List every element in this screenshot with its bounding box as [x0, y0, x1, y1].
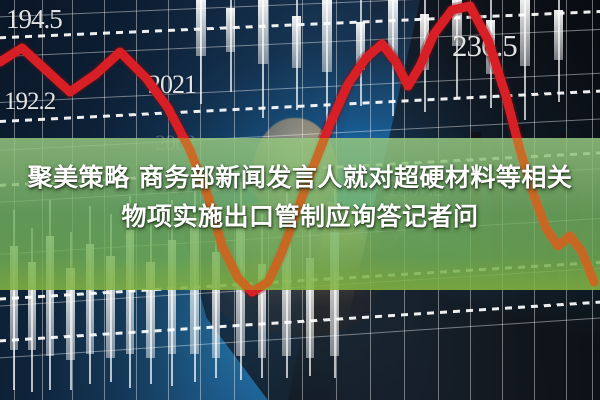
candle-body — [554, 10, 563, 60]
candle-wick — [360, 0, 362, 106]
candle-body — [388, 0, 398, 60]
candle-wick — [200, 0, 202, 104]
value-right: 236.5 — [452, 28, 517, 64]
headline-line-2: 物项实施出口管制应询答记者问 — [0, 197, 600, 236]
candle-body — [420, 14, 429, 70]
candle-body — [520, 0, 530, 66]
headline-line-1: 聚美策略 商务部新闻发言人就对超硬材料等相关 — [0, 158, 600, 197]
candle-wick — [296, 0, 298, 110]
headline-text: 聚美策略 商务部新闻发言人就对超硬材料等相关 物项实施出口管制应询答记者问 — [0, 158, 600, 236]
candle-body — [258, 0, 268, 64]
candle-wick — [490, 0, 492, 108]
candle-body — [292, 16, 301, 68]
candle-body — [356, 22, 365, 70]
year-label: 2021 — [148, 70, 196, 100]
value-top-left: 194.5 — [6, 4, 62, 35]
candle-wick — [558, 0, 560, 102]
candle-body — [486, 20, 495, 74]
grid-line-horizontal — [0, 71, 600, 105]
grid-line-dashed — [0, 8, 600, 41]
candle-wick — [262, 0, 264, 118]
candle-wick — [456, 0, 458, 98]
candle-body — [452, 0, 462, 46]
candle-body — [196, 0, 206, 56]
candle-wick — [424, 0, 426, 112]
candle-wick — [326, 0, 328, 128]
candle-wick — [524, 0, 526, 120]
candle-wick — [230, 0, 232, 92]
candle-wick — [392, 0, 394, 116]
candle-body — [226, 8, 235, 52]
value-mid-left: 192.2 — [4, 88, 55, 116]
news-thumbnail-image: 194.5192.22021236.520632507.2 聚美策略 商务部新闻… — [0, 0, 600, 400]
grid-line-horizontal — [0, 27, 600, 59]
candle-body — [322, 0, 332, 72]
grid-line-horizontal — [0, 0, 600, 19]
